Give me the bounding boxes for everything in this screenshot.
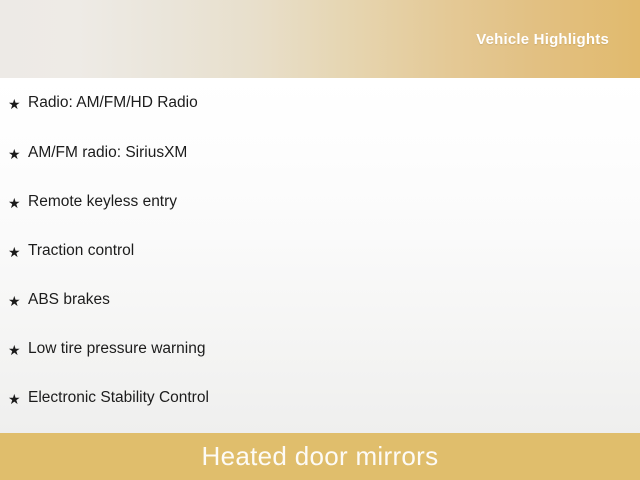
list-item-label: Electronic Stability Control: [28, 389, 640, 408]
panel-footer: Heated door mirrors: [0, 433, 640, 480]
star-icon: ★: [8, 196, 28, 210]
list-item: ★Electronic Stability Control: [0, 374, 640, 423]
footer-caption: Heated door mirrors: [202, 441, 439, 472]
star-icon: ★: [8, 294, 28, 308]
page-title: Vehicle Highlights: [476, 31, 609, 48]
list-item-label: Radio: AM/FM/HD Radio: [28, 94, 640, 113]
star-icon: ★: [8, 343, 28, 357]
list-item: ★AM/FM radio: SiriusXM: [0, 129, 640, 178]
star-icon: ★: [8, 392, 28, 406]
star-icon: ★: [8, 97, 28, 111]
list-item-label: ABS brakes: [28, 291, 640, 310]
list-item-label: Remote keyless entry: [28, 193, 640, 212]
list-item: ★Radio: AM/FM/HD Radio: [0, 78, 640, 129]
list-item: ★Traction control: [0, 227, 640, 276]
highlights-body: ★Radio: AM/FM/HD Radio★AM/FM radio: Siri…: [0, 78, 640, 433]
panel-header: Vehicle Highlights: [0, 0, 640, 78]
highlights-list: ★Radio: AM/FM/HD Radio★AM/FM radio: Siri…: [0, 78, 640, 423]
star-icon: ★: [8, 147, 28, 161]
list-item-label: AM/FM radio: SiriusXM: [28, 144, 640, 163]
list-item: ★Low tire pressure warning: [0, 325, 640, 374]
list-item-label: Low tire pressure warning: [28, 340, 640, 359]
list-item: ★ABS brakes: [0, 276, 640, 325]
list-item: ★Remote keyless entry: [0, 178, 640, 227]
vehicle-highlights-panel: Vehicle Highlights ★Radio: AM/FM/HD Radi…: [0, 0, 640, 480]
list-item-label: Traction control: [28, 242, 640, 261]
star-icon: ★: [8, 245, 28, 259]
